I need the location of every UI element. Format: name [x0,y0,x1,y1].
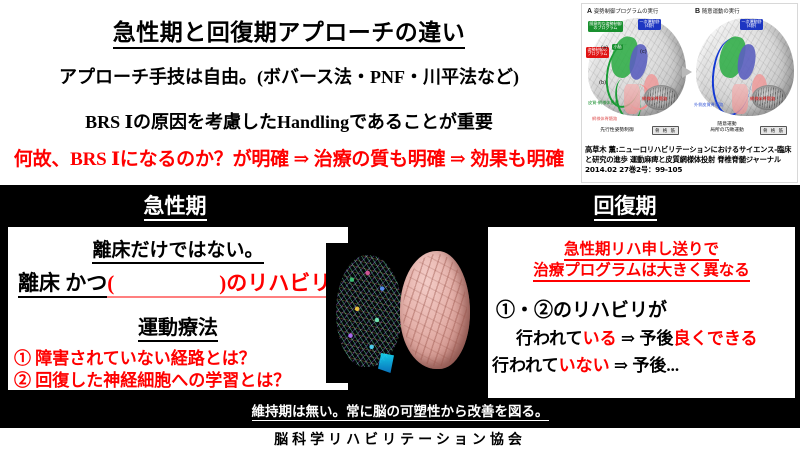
recovery-line-4-b: いる [583,329,617,348]
neural-network-hemisphere [336,255,402,367]
figure-label-lateral-corticospinal: 外側皮質脊髄路 [694,102,723,108]
figure-panel-b-title: B 随意運動の実行 [695,7,740,15]
acute-item-2: ② 回復した神経細胞への学習とは？ [14,366,290,391]
figure-label-reticulospinal-a: 網様体脊髄路 [592,116,617,122]
figure-muscle-box-b: 骨 格 筋 [760,126,787,135]
section-heading-recovery-text: 回復期 [594,194,657,221]
figure-caption-voluntary-movement: 随意運動 局所の巧緻運動 [698,122,756,133]
recovery-line-4-a: 行われて [516,329,583,348]
maintenance-note: 維持期は無い。常に脳の可塑性から改善を図る。 [0,400,800,420]
acute-panel: 離床だけではない。 離床 かつ( )のリハビリ 運動療法 ① 障害されていない経… [8,227,348,390]
header-line-emphasis: 何故、BRS Ⅰになるのか？が明確 ⇒ 治療の質も明確 ⇒ 効果も明確 [0,144,578,171]
brainstem-shape [624,84,640,114]
recovery-line-2-text: 治療プログラムは大きく異なる [533,262,750,282]
figure-muscle-box-a: 骨 格 筋 [652,126,679,135]
recovery-line-5-b: いない [559,356,610,375]
section-heading-acute: 急性期 [0,190,350,220]
header-line-approach: アプローチ手技は自由。(ボバース法・PNF・川平法など) [0,63,578,89]
recovery-line-4: 行われている ⇒ 予後良くできる [516,324,758,349]
figure-tag-primary-motor-a: 一次運動野 (4野) [638,19,661,30]
figure-panel-a-label: 姿勢制御プログラムの実行 [594,9,659,15]
figure-label-reticulospinal-a2: 網様体脊髄路 [642,96,667,102]
recovery-line-3: ①・②のリハビリが [496,295,667,322]
recovery-line-4-arrow: ⇒ [621,329,635,348]
recovery-line-4-d: 良くできる [673,329,757,348]
recovery-panel: 急性期リハ申し送りで 治療プログラムは大きく異なる ①・②のリハビリが 行われて… [488,227,795,398]
figure-panel-b: B 随意運動の実行 一次運動野 (4野) 外側皮質脊髄路 網様体脊髄 [692,4,796,146]
recovery-line-1: 急性期リハ申し送りで [488,237,795,259]
figure-label-cortico-reticular: 皮質-網様体投射 [588,100,619,106]
brain-pathway-diagram: A 姿勢制御プログラムの実行 随意的な姿勢制御 のプログ [582,4,797,146]
header-line-handling: BRS Ⅰの原因を考慮したHandlingであることが重要 [0,108,578,134]
acute-line-2-red: ( )のリハビリ [107,271,331,298]
slide-root: 急性期と回復期アプローチの違い アプローチ手技は自由。(ボバース法・PNF・川平… [0,0,800,450]
acute-line-2: 離床 かつ( )のリハビリ [18,267,331,297]
figure-panel-a-letter: A [587,8,592,15]
maintenance-note-text: 維持期は無い。常に脳の可塑性から改善を図る。 [252,404,549,421]
recovery-line-5: 行われていない ⇒ 予後... [492,351,679,376]
footer-bar: 脳科学リハビリテーション協会 [0,427,800,450]
figure-panel-b-label: 随意運動の実行 [702,9,740,15]
figure-tag-voluntary-posture: 随意的な姿勢制御 のプログラム [588,21,623,32]
brainstem-shape-b [732,84,748,114]
recovery-line-5-c: 予後... [632,356,679,375]
figure-tag-cerebellum: 小脳 [612,44,623,50]
acute-line-1-text: 離床だけではない。 [92,240,263,264]
split-brain-image [326,243,476,383]
figure-panel-a-title: A 姿勢制御プログラムの実行 [587,7,658,15]
figure-marker-c: (c) [640,49,647,55]
acute-line-2-black: 離床 かつ [18,271,107,298]
figure-marker-b: (b) [599,80,606,86]
footer-organization: 脳科学リハビリテーション協会 [274,429,526,449]
figure-marker-a: (a) [601,45,608,51]
figure-panel-a: A 姿勢制御プログラムの実行 随意的な姿勢制御 のプログ [584,4,688,146]
figure-label-reticulospinal-b: 網様体脊髄路 [750,96,775,102]
figure-panel-b-letter: B [695,8,700,15]
header-section: 急性期と回復期アプローチの違い アプローチ手技は自由。(ボバース法・PNF・川平… [0,0,800,185]
recovery-line-5-arrow: ⇒ [614,356,628,375]
recovery-line-5-a: 行われて [492,356,559,375]
acute-line-3: 運動療法 [8,311,348,340]
reference-figure: A 姿勢制御プログラムの実行 随意的な姿勢制御 のプログ [581,3,798,183]
figure-caption-anticipatory-posture: 先行性姿勢制御 [586,128,648,134]
recovery-line-2: 治療プログラムは大きく異なる [488,258,795,280]
figure-citation: 高草木 薫:ニューロリハビリテーションにおけるサイエンス-臨床と研究の進歩 運動… [585,145,795,175]
anatomical-hemisphere [400,251,470,369]
page-title: 急性期と回復期アプローチの違い [0,13,578,47]
recovery-line-4-c: 予後 [639,329,673,348]
section-heading-acute-text: 急性期 [144,194,207,221]
main-dark-section: 急性期 回復期 離床だけではない。 離床 かつ( )のリハビリ 運動療法 ① 障… [0,185,800,427]
acute-line-1: 離床だけではない。 [8,235,348,262]
page-title-text: 急性期と回復期アプローチの違い [113,20,466,49]
figure-tag-primary-motor-b: 一次運動野 (4野) [740,19,763,30]
acute-line-3-text: 運動療法 [138,317,218,342]
section-heading-recovery: 回復期 [450,190,800,220]
figure-transition-arrow [682,66,692,78]
